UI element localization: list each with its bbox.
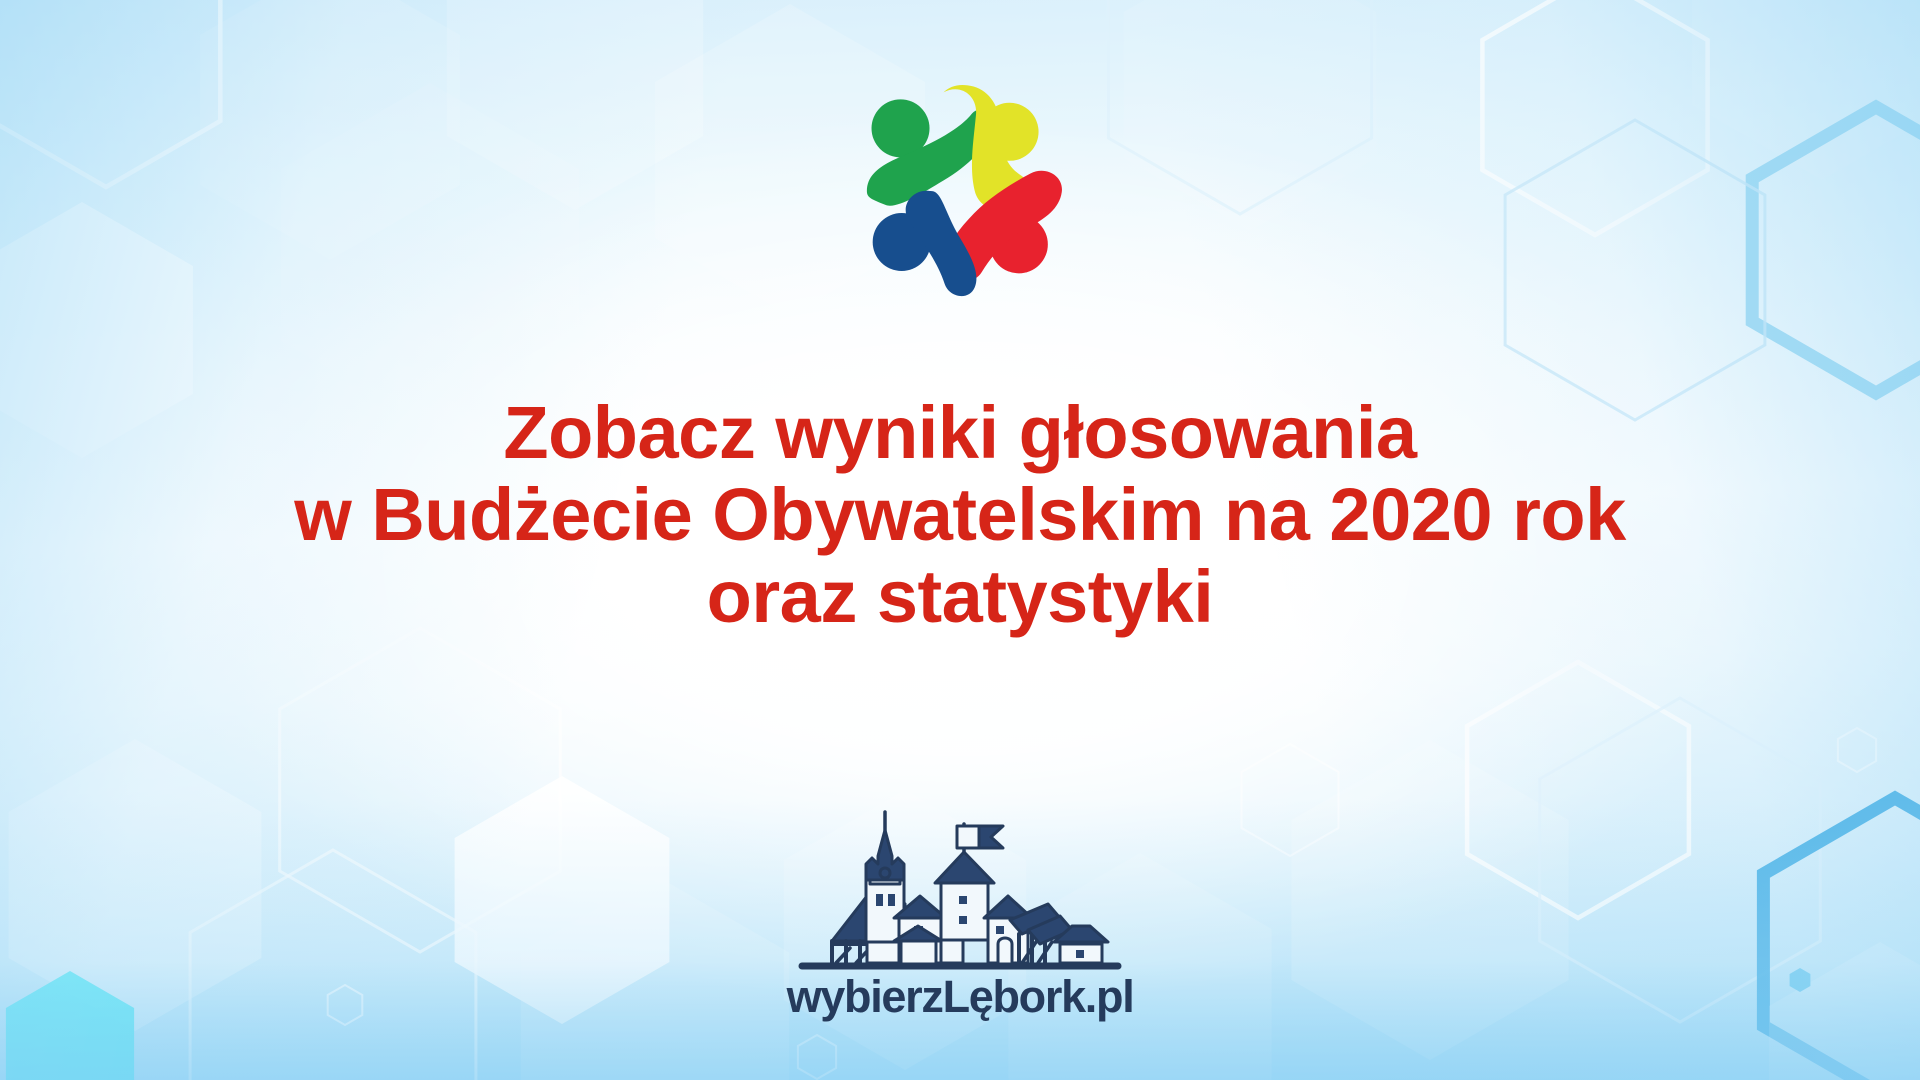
headline-line-3: oraz statystyki (0, 556, 1920, 638)
brand-wordmark: wybierzLębork.pl (760, 971, 1160, 1023)
slide-canvas: Zobacz wyniki głosowania w Budżecie Obyw… (0, 0, 1920, 1080)
headline-line-2: w Budżecie Obywatelskim na 2020 rok (0, 474, 1920, 556)
figure-blue-icon (873, 191, 977, 296)
brand-lockup: wybierzLębork.pl (760, 808, 1160, 1048)
lebork-town-skyline-icon (760, 808, 1160, 974)
participatory-budget-people-logo (846, 68, 1078, 300)
page-title: Zobacz wyniki głosowania w Budżecie Obyw… (0, 392, 1920, 637)
headline-line-1: Zobacz wyniki głosowania (0, 392, 1920, 474)
